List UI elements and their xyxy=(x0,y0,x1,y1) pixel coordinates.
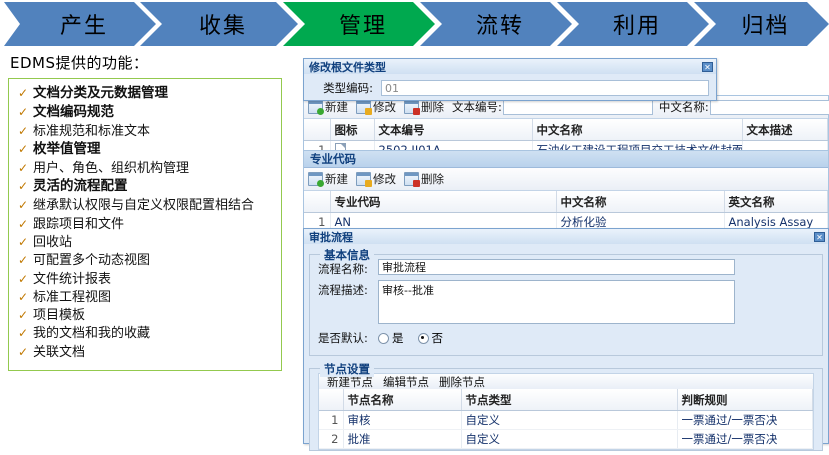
type-code-row: 类型编码: 01 xyxy=(311,80,709,96)
col-en-name[interactable]: 英文名称 xyxy=(724,191,828,213)
check-icon: ✓ xyxy=(13,271,33,288)
check-icon: ✓ xyxy=(13,104,33,121)
step-label-4: 利用 xyxy=(613,8,661,40)
check-icon: ✓ xyxy=(13,234,33,251)
col-index[interactable] xyxy=(304,119,330,141)
major-code-grid: 专业代码 中文名称 英文名称 1 AN 分析化验 Analysis Assay xyxy=(304,191,828,232)
check-icon: ✓ xyxy=(13,141,33,158)
feature-item: ✓我的文档和我的收藏 xyxy=(13,325,277,342)
check-icon: ✓ xyxy=(13,85,33,102)
major-code-panel: 专业代码 新建 修改 删除 专业代码 中文名称 英文名称 1 AN 分析化验 A… xyxy=(303,150,829,235)
feature-item: ✓项目模板 xyxy=(13,307,277,324)
major-delete-label: 删除 xyxy=(421,171,444,187)
check-icon: ✓ xyxy=(13,216,33,233)
step-label-3: 流转 xyxy=(476,8,524,40)
cn-name-filter-input[interactable] xyxy=(710,100,829,115)
text-code-filter: 文本编号: xyxy=(452,99,653,115)
row-node-name: 批准 xyxy=(343,430,461,449)
col-cn-name[interactable]: 中文名称 xyxy=(556,191,724,213)
approval-dialog-body: 基本信息 流程名称: 审批流程 流程描述: 审核--批准 是否默认: 是 xyxy=(304,244,828,455)
approval-process-dialog: 审批流程 ✕ 基本信息 流程名称: 审批流程 流程描述: 审核--批准 是否默认… xyxy=(303,228,829,444)
edit-root-file-type-dialog: 修改根文件类型 ✕ 类型编码: 01 xyxy=(303,58,717,101)
check-icon: ✓ xyxy=(13,344,33,361)
radio-no-dot xyxy=(418,333,429,344)
feature-label: 继承默认权限与自定义权限配置相结合 xyxy=(33,197,254,214)
feature-label: 回收站 xyxy=(33,234,72,251)
grid-header-row: 节点名称 节点类型 判断规则 xyxy=(319,389,813,411)
step-chevron-1[interactable]: 收集 xyxy=(140,2,298,46)
node-settings-legend: 节点设置 xyxy=(320,361,374,377)
check-icon: ✓ xyxy=(13,197,33,214)
radio-no[interactable]: 否 xyxy=(418,330,444,346)
delete-icon xyxy=(404,172,419,186)
process-name-row: 流程名称: 审批流程 xyxy=(318,259,814,277)
row-node-type: 自定义 xyxy=(461,430,677,449)
major-code-panel-title: 专业代码 xyxy=(304,151,828,168)
radio-no-label: 否 xyxy=(432,330,444,346)
step-chevron-0[interactable]: 产生 xyxy=(4,2,156,46)
node-grid: 节点名称 节点类型 判断规则 1 审核 自定义 一票通过/一票否决 2 xyxy=(319,389,813,449)
col-major-code[interactable]: 专业代码 xyxy=(330,191,556,213)
features-heading: EDMS提供的功能： xyxy=(10,52,292,73)
check-icon: ✓ xyxy=(13,252,33,269)
table-row[interactable]: 1 审核 自定义 一票通过/一票否决 xyxy=(319,411,813,430)
delete-button-label: 删除 xyxy=(421,99,444,115)
feature-item: ✓关联文档 xyxy=(13,344,277,361)
process-desc-textarea[interactable]: 审核--批准 xyxy=(378,280,735,324)
radio-yes-label: 是 xyxy=(392,330,404,346)
col-node-name[interactable]: 节点名称 xyxy=(343,389,461,411)
type-code-input[interactable]: 01 xyxy=(381,80,709,96)
radio-yes-dot xyxy=(378,333,389,344)
dialog-titlebar[interactable]: 修改根文件类型 ✕ xyxy=(304,59,716,74)
major-new-button[interactable]: 新建 xyxy=(308,171,348,187)
feature-item: ✓灵活的流程配置 xyxy=(13,178,277,196)
feature-label: 枚举值管理 xyxy=(33,141,101,159)
edit-button-label: 修改 xyxy=(373,99,396,115)
feature-label: 文件统计报表 xyxy=(33,271,111,288)
process-step-banner: 产生 收集 管理 流转 利用 归档 xyxy=(0,2,829,47)
feature-label: 文档分类及元数据管理 xyxy=(33,85,168,103)
grid-header-row: 专业代码 中文名称 英文名称 xyxy=(304,191,828,213)
feature-item: ✓文档分类及元数据管理 xyxy=(13,85,277,103)
feature-item: ✓文件统计报表 xyxy=(13,271,277,288)
feature-item: ✓文档编码规范 xyxy=(13,104,277,122)
check-icon: ✓ xyxy=(13,289,33,306)
major-delete-button[interactable]: 删除 xyxy=(404,171,444,187)
is-default-radio-group: 是 否 xyxy=(378,328,443,346)
feature-item: ✓回收站 xyxy=(13,234,277,251)
step-chevron-5[interactable]: 归档 xyxy=(694,2,829,46)
feature-label: 标准工程视图 xyxy=(33,289,111,306)
row-index: 1 xyxy=(319,411,343,430)
feature-label: 项目模板 xyxy=(33,307,85,324)
radio-yes[interactable]: 是 xyxy=(378,330,404,346)
feature-label: 标准规范和标准文本 xyxy=(33,123,150,140)
feature-label: 文档编码规范 xyxy=(33,104,114,122)
approval-dialog-titlebar[interactable]: 审批流程 ✕ xyxy=(304,229,828,244)
edit-icon xyxy=(356,100,371,114)
row-index: 2 xyxy=(319,430,343,449)
text-code-filter-label: 文本编号: xyxy=(452,99,502,115)
feature-label: 灵活的流程配置 xyxy=(33,178,128,196)
text-code-filter-input[interactable] xyxy=(503,100,653,115)
col-index[interactable] xyxy=(319,389,343,411)
check-icon: ✓ xyxy=(13,160,33,177)
basic-info-fieldset: 基本信息 流程名称: 审批流程 流程描述: 审核--批准 是否默认: 是 xyxy=(309,254,823,356)
edit-icon xyxy=(356,172,371,186)
table-row[interactable]: 2 批准 自定义 一票通过/一票否决 xyxy=(319,430,813,449)
process-desc-row: 流程描述: 审核--批准 xyxy=(318,280,814,324)
feature-item: ✓可配置多个动态视图 xyxy=(13,252,277,269)
step-chevron-3[interactable]: 流转 xyxy=(420,2,572,46)
col-cn-name[interactable]: 中文名称 xyxy=(532,119,742,141)
new-button-label: 新建 xyxy=(325,99,348,115)
check-icon: ✓ xyxy=(13,307,33,324)
type-code-label: 类型编码: xyxy=(311,80,373,96)
row-node-rule: 一票通过/一票否决 xyxy=(677,411,813,430)
step-label-2: 管理 xyxy=(339,8,387,40)
node-grid-wrap: 节点名称 节点类型 判断规则 1 审核 自定义 一票通过/一票否决 2 xyxy=(318,389,814,450)
feature-item: ✓继承默认权限与自定义权限配置相结合 xyxy=(13,197,277,214)
step-chevron-4[interactable]: 利用 xyxy=(557,2,709,46)
features-column: EDMS提供的功能： ✓文档分类及元数据管理✓文档编码规范✓标准规范和标准文本✓… xyxy=(8,52,292,371)
feature-label: 用户、角色、组织机构管理 xyxy=(33,160,189,177)
check-icon: ✓ xyxy=(13,325,33,342)
step-label-1: 收集 xyxy=(199,8,247,40)
step-label-0: 产生 xyxy=(60,8,108,40)
step-label-5: 归档 xyxy=(741,8,789,40)
step-chevron-2[interactable]: 管理 xyxy=(283,2,435,46)
basic-info-legend: 基本信息 xyxy=(320,247,374,263)
dialog-title: 修改根文件类型 xyxy=(309,59,386,75)
cn-name-filter: 中文名称: xyxy=(659,99,829,115)
approval-dialog-title: 审批流程 xyxy=(309,229,353,245)
node-settings-fieldset: 节点设置 新建节点 编辑节点 删除节点 节点名称 节点类型 判断规则 xyxy=(309,368,823,451)
node-toolbar: 新建节点 编辑节点 删除节点 xyxy=(318,373,814,389)
col-icon[interactable]: 图标 xyxy=(330,119,374,141)
feature-item: ✓标准工程视图 xyxy=(13,289,277,306)
process-name-input[interactable]: 审批流程 xyxy=(378,259,735,275)
process-desc-label: 流程描述: xyxy=(318,280,378,298)
edit-button[interactable]: 修改 xyxy=(356,99,396,115)
col-node-type[interactable]: 节点类型 xyxy=(461,389,677,411)
new-icon xyxy=(308,100,323,114)
delete-node-button[interactable]: 删除节点 xyxy=(439,374,485,390)
col-text-desc[interactable]: 文本描述 xyxy=(742,119,828,141)
cn-name-filter-label: 中文名称: xyxy=(659,99,709,115)
major-code-toolbar: 新建 修改 删除 xyxy=(304,168,828,191)
is-default-row: 是否默认: 是 否 xyxy=(318,328,814,346)
feature-item: ✓用户、角色、组织机构管理 xyxy=(13,160,277,177)
row-node-rule: 一票通过/一票否决 xyxy=(677,430,813,449)
check-icon: ✓ xyxy=(13,123,33,140)
grid-header-row: 图标 文本编号 中文名称 文本描述 xyxy=(304,119,828,141)
features-box: ✓文档分类及元数据管理✓文档编码规范✓标准规范和标准文本✓枚举值管理✓用户、角色… xyxy=(8,78,282,371)
new-icon xyxy=(308,172,323,186)
feature-item: ✓枚举值管理 xyxy=(13,141,277,159)
delete-icon xyxy=(404,100,419,114)
dialog-body: 类型编码: 01 xyxy=(304,74,716,100)
edit-node-button[interactable]: 编辑节点 xyxy=(383,374,429,390)
delete-button[interactable]: 删除 xyxy=(404,99,444,115)
feature-item: ✓跟踪项目和文件 xyxy=(13,216,277,233)
new-button[interactable]: 新建 xyxy=(308,99,348,115)
feature-label: 跟踪项目和文件 xyxy=(33,216,124,233)
close-icon[interactable]: ✕ xyxy=(702,62,713,72)
close-icon[interactable]: ✕ xyxy=(814,232,825,242)
check-icon: ✓ xyxy=(13,178,33,195)
col-text-code[interactable]: 文本编号 xyxy=(374,119,532,141)
col-index[interactable] xyxy=(304,191,330,213)
major-new-label: 新建 xyxy=(325,171,348,187)
feature-label: 关联文档 xyxy=(33,344,85,361)
feature-label: 我的文档和我的收藏 xyxy=(33,325,150,342)
row-node-name: 审核 xyxy=(343,411,461,430)
major-edit-label: 修改 xyxy=(373,171,396,187)
row-node-type: 自定义 xyxy=(461,411,677,430)
major-edit-button[interactable]: 修改 xyxy=(356,171,396,187)
feature-item: ✓标准规范和标准文本 xyxy=(13,123,277,140)
feature-label: 可配置多个动态视图 xyxy=(33,252,150,269)
col-node-rule[interactable]: 判断规则 xyxy=(677,389,813,411)
is-default-label: 是否默认: xyxy=(318,328,378,346)
